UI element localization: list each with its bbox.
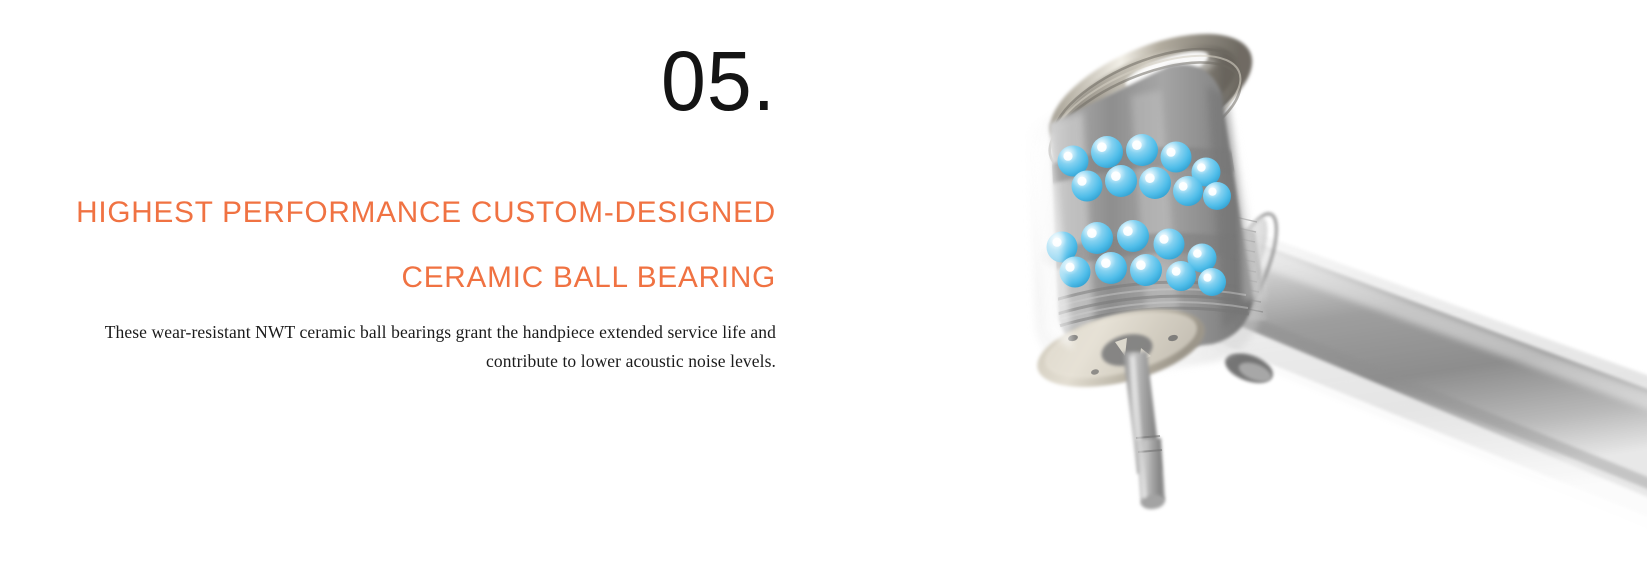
ball: [1198, 268, 1226, 296]
ball: [1139, 167, 1171, 199]
ball: [1091, 136, 1123, 168]
section-number: 05.: [31, 33, 776, 129]
ball: [1126, 134, 1158, 166]
ball: [1072, 171, 1103, 202]
headline: HIGHEST PERFORMANCE CUSTOM-DESIGNED CERA…: [0, 180, 776, 310]
ball: [1117, 220, 1149, 252]
slide-root: 05. HIGHEST PERFORMANCE CUSTOM-DESIGNED …: [0, 0, 1647, 588]
ball: [1203, 182, 1231, 210]
ball: [1081, 222, 1113, 254]
headline-line-2: CERAMIC BALL BEARING: [8, 245, 776, 310]
product-illustration: [955, 0, 1647, 588]
body-paragraph: These wear-resistant NWT ceramic ball be…: [41, 318, 776, 376]
ball: [1161, 142, 1192, 173]
ball: [1105, 165, 1137, 197]
ball: [1173, 176, 1203, 206]
headline-line-1: HIGHEST PERFORMANCE CUSTOM-DESIGNED: [8, 180, 776, 245]
ball: [1130, 254, 1162, 286]
bur-shaft: [1123, 352, 1166, 511]
ball: [1166, 261, 1196, 291]
ball: [1095, 252, 1127, 284]
text-column: 05. HIGHEST PERFORMANCE CUSTOM-DESIGNED …: [0, 0, 776, 588]
ball: [1154, 229, 1185, 260]
